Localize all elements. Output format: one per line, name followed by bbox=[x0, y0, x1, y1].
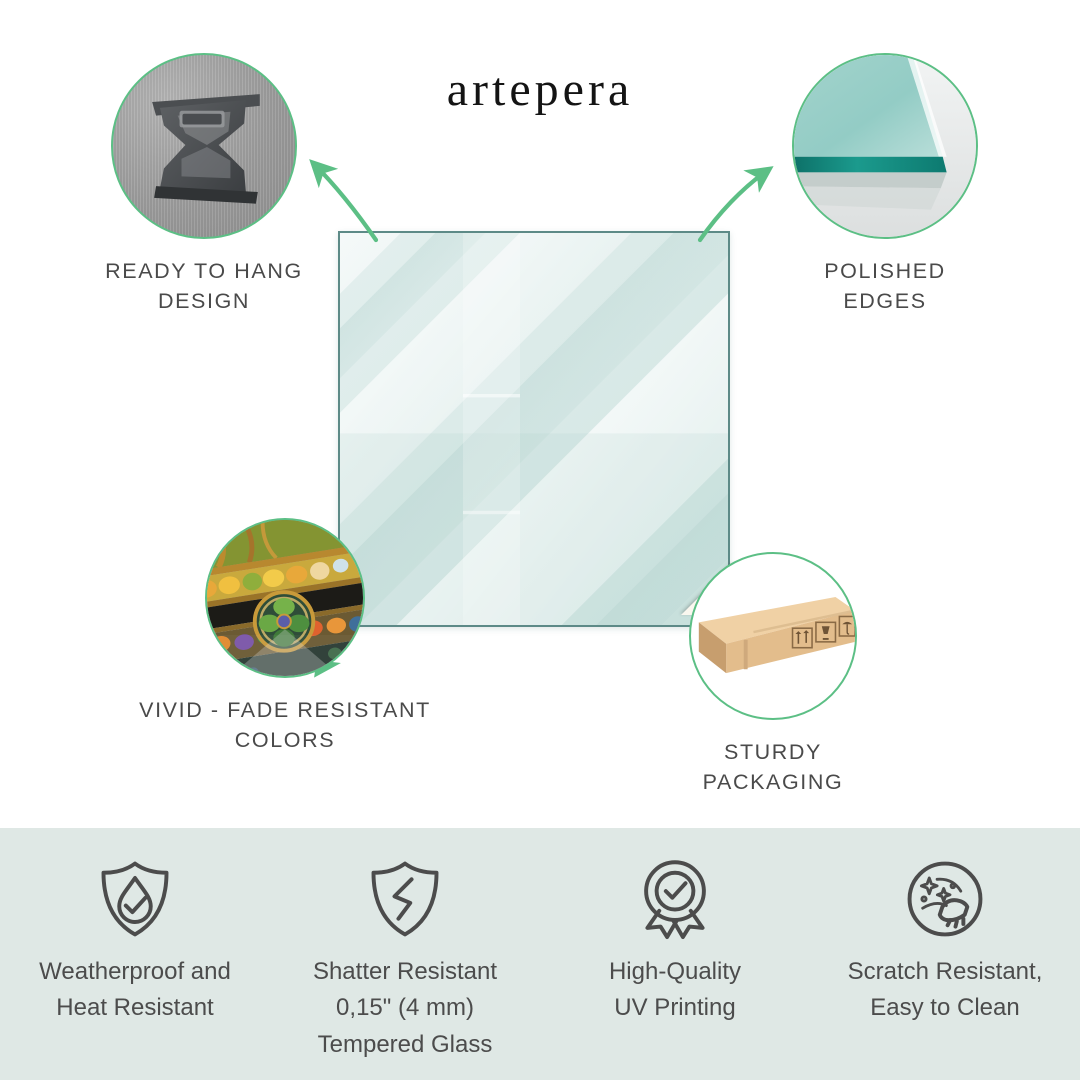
hanging-bracket-photo bbox=[111, 53, 297, 239]
cardboard-box-photo bbox=[689, 552, 857, 720]
spec-text-weatherproof: Weatherproof and Heat Resistant bbox=[10, 954, 260, 1027]
feature-polished-edges: POLISHED EDGES bbox=[790, 53, 980, 316]
spec-text-scratch-resistant: Scratch Resistant, Easy to Clean bbox=[820, 954, 1070, 1027]
sparkle-hand-wipe-icon bbox=[820, 856, 1070, 942]
award-badge-check-icon bbox=[550, 856, 800, 942]
infographic-page: artepera bbox=[0, 0, 1080, 1080]
feature-label-sturdy-packaging: STURDY PACKAGING bbox=[688, 738, 858, 797]
spec-scratch-resistant: Scratch Resistant, Easy to Clean bbox=[820, 856, 1070, 1027]
specs-bar: Weatherproof and Heat Resistant Shatter … bbox=[0, 828, 1080, 1080]
bracket-illustration bbox=[113, 55, 295, 237]
feature-label-vivid-colors: VIVID - FADE RESISTANT COLORS bbox=[115, 696, 455, 755]
feature-vivid-colors: VIVID - FADE RESISTANT COLORS bbox=[115, 518, 455, 755]
spec-text-uv-printing: High-Quality UV Printing bbox=[550, 954, 800, 1027]
cardboard-box-illustration bbox=[691, 554, 855, 718]
spec-uv-printing: High-Quality UV Printing bbox=[550, 856, 800, 1027]
stained-glass-art-photo bbox=[205, 518, 365, 678]
feature-label-polished-edges: POLISHED EDGES bbox=[790, 257, 980, 316]
glass-edge-photo bbox=[792, 53, 978, 239]
spec-text-shatter-resistant: Shatter Resistant 0,15" (4 mm) Tempered … bbox=[280, 954, 530, 1063]
feature-sturdy-packaging: STURDY PACKAGING bbox=[688, 552, 858, 797]
feature-ready-to-hang: READY TO HANG DESIGN bbox=[104, 53, 304, 316]
shield-droplet-check-icon bbox=[10, 856, 260, 942]
stained-glass-illustration bbox=[207, 520, 363, 676]
feature-label-ready-to-hang: READY TO HANG DESIGN bbox=[104, 257, 304, 316]
arrow-to-polished-edges bbox=[700, 170, 768, 240]
glass-edge-illustration bbox=[794, 55, 976, 237]
spec-shatter-resistant: Shatter Resistant 0,15" (4 mm) Tempered … bbox=[280, 856, 530, 1063]
shield-bolt-icon bbox=[280, 856, 530, 942]
arrow-to-ready-to-hang bbox=[314, 164, 376, 240]
spec-weatherproof: Weatherproof and Heat Resistant bbox=[10, 856, 260, 1027]
